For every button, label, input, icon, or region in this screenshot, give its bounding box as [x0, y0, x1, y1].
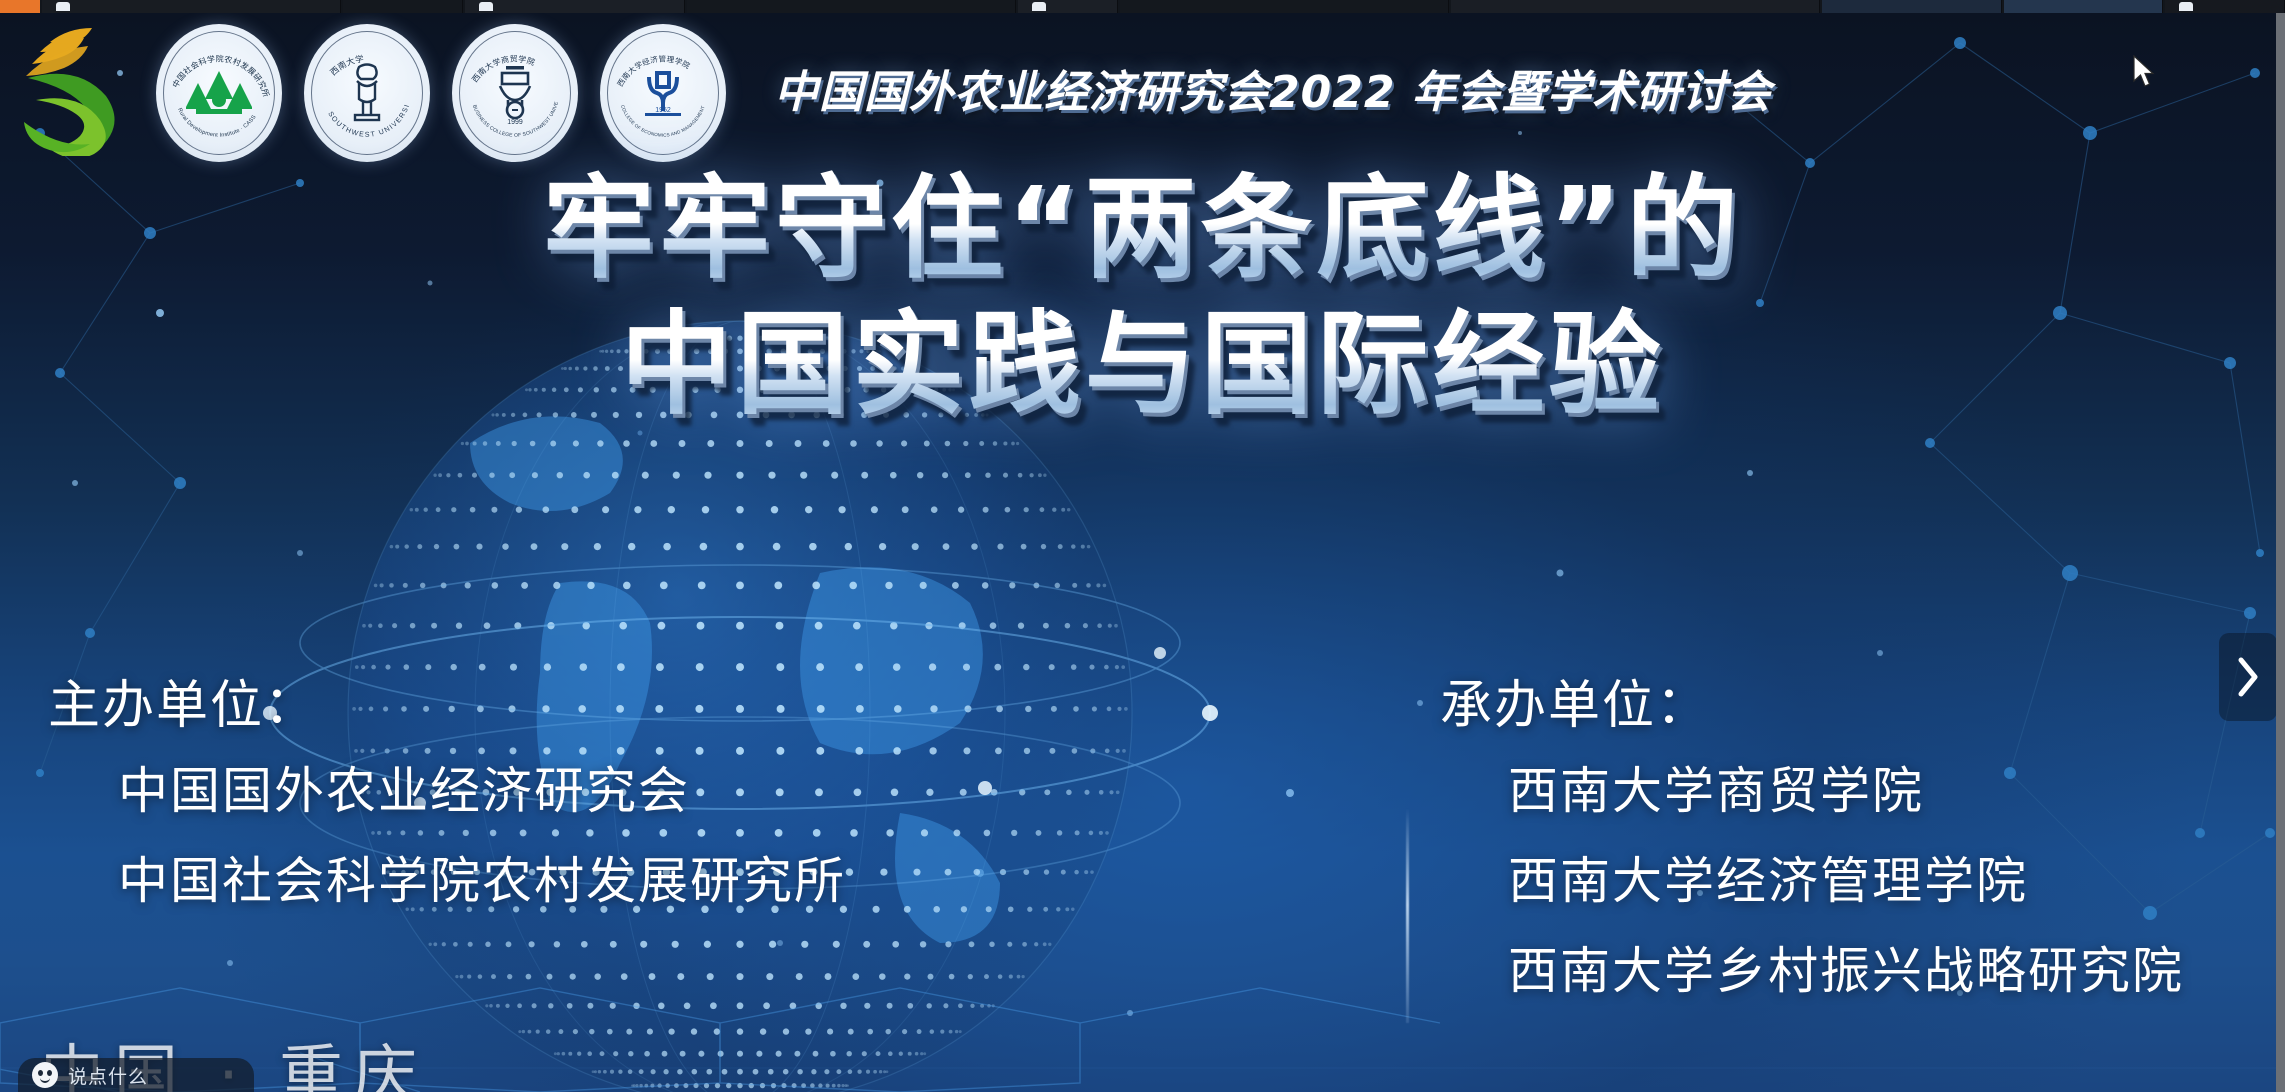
bell-tower-icon — [339, 61, 395, 125]
tab-nub-icon — [479, 2, 493, 11]
wheat-leaf-emblem-icon — [14, 26, 134, 156]
rural-development-institute-seal-logo: 中国社会科学院农村发展研究所 Rural Development Institu… — [156, 24, 282, 162]
tab-nub-icon — [2179, 2, 2193, 11]
list-item: 西南大学商贸学院 — [1508, 766, 2250, 816]
business-college-swu-seal-logo: 西南大学商贸学院 BUSINESS COLLEGE OF SOUTHWEST U… — [452, 24, 578, 162]
next-slide-button[interactable] — [2219, 633, 2277, 721]
comment-input-bar[interactable]: 说点什么 — [18, 1058, 254, 1092]
wheat-leaf-emblem-logo — [14, 26, 134, 161]
vessel-emblem-icon: 1999 — [486, 60, 544, 126]
list-item: 西南大学经济管理学院 — [1508, 856, 2250, 906]
tab-nub-icon — [56, 2, 70, 11]
conference-header-title: 中国国外农业经济研究会2022 年会暨学术研讨会 — [774, 70, 1772, 116]
co-organizers-heading: 承办单位： — [1440, 663, 2250, 738]
list-item: 中国社会科学院农村发展研究所 — [118, 856, 1290, 906]
co-organizers-list: 西南大学商贸学院 西南大学经济管理学院 西南大学乡村振兴战略研究院 — [1430, 766, 2250, 996]
organizers-column: 主办单位： 中国国外农业经济研究会 中国社会科学院农村发展研究所 — [40, 663, 1290, 946]
main-title-line-2: 中国实践与国际经验 — [0, 299, 2285, 431]
browser-tab[interactable] — [1120, 0, 1449, 13]
browser-tab[interactable] — [687, 0, 1016, 13]
window-right-gutter[interactable] — [2276, 13, 2285, 1092]
app-logo-orange[interactable] — [0, 0, 40, 13]
svg-text:1999: 1999 — [507, 119, 523, 126]
list-item: 中国国外农业经济研究会 — [118, 766, 1290, 816]
green-mountain-icon — [186, 69, 252, 117]
browser-tab[interactable] — [42, 0, 341, 13]
co-organizers-column: 承办单位： 西南大学商贸学院 西南大学经济管理学院 西南大学乡村振兴战略研究院 — [1430, 663, 2250, 1036]
chevron-right-icon — [2235, 655, 2261, 699]
screen: 中国社会科学院农村发展研究所 Rural Development Institu… — [0, 0, 2285, 1092]
browser-tab[interactable] — [2004, 0, 2164, 13]
main-title-line-1: 牢牢守住“两条底线”的 — [0, 163, 2285, 295]
browser-tab[interactable] — [1451, 0, 1820, 13]
list-item: 西南大学乡村振兴战略研究院 — [1508, 946, 2250, 996]
browser-tab[interactable] — [343, 0, 463, 13]
browser-tab[interactable] — [465, 0, 685, 13]
slide-header: 中国社会科学院农村发展研究所 Rural Development Institu… — [0, 13, 2285, 173]
blue-arch-icon: 1952 — [635, 63, 691, 123]
browser-tab-bar[interactable] — [0, 0, 2285, 13]
svg-text:1952: 1952 — [655, 107, 671, 114]
economics-management-swu-seal-logo: 西南大学经济管理学院 COLLEGE OF ECONOMICS AND MANA… — [600, 24, 726, 162]
smiley-face-icon[interactable] — [32, 1062, 58, 1088]
slide-main-title: 牢牢守住“两条底线”的 中国实践与国际经验 — [0, 163, 2285, 431]
browser-tab[interactable] — [2165, 0, 2285, 13]
tab-nub-icon — [1032, 2, 1046, 11]
organizers-heading: 主办单位： — [48, 663, 1290, 738]
presentation-slide[interactable]: 中国社会科学院农村发展研究所 Rural Development Institu… — [0, 13, 2285, 1092]
southwest-university-seal-logo: 西南大学 SOUTHWEST UNIVERSITY — [304, 24, 430, 162]
browser-tab[interactable] — [1018, 0, 1118, 13]
organizers-list: 中国国外农业经济研究会 中国社会科学院农村发展研究所 — [40, 766, 1290, 906]
comment-input-placeholder[interactable]: 说点什么 — [68, 1062, 148, 1089]
browser-tab[interactable] — [1822, 0, 2002, 13]
